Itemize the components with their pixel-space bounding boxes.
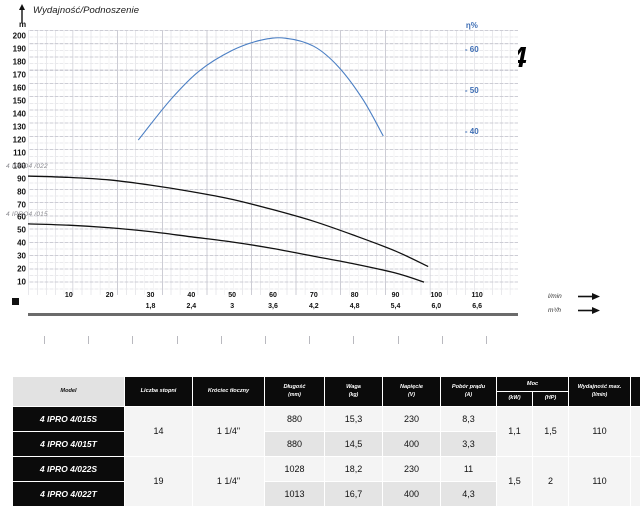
chart-axis-title: Wydajność/Podnoszenie [33,5,139,16]
table-body: 4 IPRO 4/015S141 1/4"88015,32308,31,11,5… [13,406,640,506]
cell-power-hp: 2 [533,456,569,506]
eta-tick-50: - 50 [465,86,479,95]
right-arrow-icon [578,292,600,301]
x-tick-30: 30 [147,292,155,299]
lower-tick-9 [442,336,443,344]
cell-outlet: 1 1/4" [193,406,265,456]
x-tick-m3h-80: 4,8 [350,303,360,310]
header-voltage: Napięcie (V) [383,377,441,407]
header-voltage-unit: (V) [384,392,439,400]
y-tick-90: 90 [0,174,26,183]
x-tick-m3h-100: 6,0 [431,303,441,310]
y-tick-10: 10 [0,278,26,287]
x-tick-10: 10 [65,292,73,299]
x-tick-m3h-90: 5,4 [391,303,401,310]
y-tick-40: 40 [0,239,26,248]
curve-head-0 [28,176,428,266]
cell-current: 4,3 [441,481,497,506]
cell-power-hp: 1,5 [533,406,569,456]
cell-stages: 14 [125,406,193,456]
y-tick-190: 190 [0,45,26,54]
plot-area [28,30,518,295]
header-current: Pobór prądu (A) [441,377,497,407]
x-tick-40: 40 [187,292,195,299]
y-tick-20: 20 [0,265,26,274]
header-current-unit: (A) [442,392,495,400]
cell-voltage: 230 [383,456,441,481]
curve-efficiency [138,38,383,140]
cell-length: 1028 [265,456,325,481]
cell-weight: 15,3 [325,406,383,431]
cell-outlet: 1 1/4" [193,456,265,506]
header-power-kw: (kW) [497,391,533,406]
y-tick-200: 200 [0,32,26,41]
curve-head-1 [28,224,424,282]
header-head-max: Wysokość podnoszenia max. (m) [631,377,640,407]
unit-label-m3h: m³/h [548,307,570,314]
cell-flow-max: 110 [569,456,631,506]
curve-layer [28,30,518,295]
header-flow-max: Wydajność max. (l/min) [569,377,631,407]
header-length-text: Długość [283,384,305,390]
x-tick-110: 110 [472,292,483,299]
cell-length: 880 [265,406,325,431]
header-head-unit: max. (m) [632,396,640,404]
unit-row-lmin: l/min [548,291,638,302]
header-weight: Waga (kg) [325,377,383,407]
x-tick-50: 50 [228,292,236,299]
cell-stages: 19 [125,456,193,506]
y-tick-80: 80 [0,187,26,196]
x-tick-100: 100 [430,292,442,299]
cell-model: 4 IPRO 4/015S [13,406,125,431]
eta-tick-40: - 40 [465,127,479,136]
cell-weight: 18,2 [325,456,383,481]
cell-flow-max: 110 [569,406,631,456]
curve-label-1: 4 IPRO4 /015 [6,211,48,218]
cell-model: 4 IPRO 4/015T [13,431,125,456]
unit-row-m3h: m³/h [548,305,638,316]
x-axis-units: l/min m³/h [548,291,638,319]
x-tick-m3h-40: 2,4 [186,303,196,310]
header-flow-unit: (l/min) [570,392,629,400]
x-tick-m3h-50: 3 [230,303,234,310]
cell-current: 8,3 [441,406,497,431]
header-power: Moc [497,377,569,392]
lower-tick-7 [353,336,354,344]
y-tick-170: 170 [0,71,26,80]
y-tick-120: 120 [0,135,26,144]
x-tick-80: 80 [351,292,359,299]
y-tick-150: 150 [0,97,26,106]
cell-weight: 16,7 [325,481,383,506]
x-tick-m3h-30: 1,8 [146,303,156,310]
table-header-row-1: Model Liczba stopni Króciec tłoczny Dług… [13,377,640,392]
cell-voltage: 400 [383,431,441,456]
header-voltage-text: Napięcie [400,384,423,390]
y-tick-160: 160 [0,84,26,93]
eta-axis-label: η% [466,21,478,30]
y-axis-unit: m [19,20,26,29]
header-weight-unit: (kg) [326,392,381,400]
x-tick-m3h-70: 4,2 [309,303,319,310]
x-tick-70: 70 [310,292,318,299]
y-tick-70: 70 [0,200,26,209]
y-tick-130: 130 [0,122,26,131]
curve-label-0: 4 IPRO4 /022 [6,163,48,170]
cell-head-max: 127 [631,456,640,506]
header-length-unit: (mm) [266,392,323,400]
header-length: Długość (mm) [265,377,325,407]
eta-tick-60: - 60 [465,45,479,54]
right-arrow-icon-2 [578,306,600,315]
header-stages: Liczba stopni [125,377,193,407]
specs-table-container: Model Liczba stopni Króciec tłoczny Dług… [12,376,628,507]
cell-power-kw: 1,1 [497,406,533,456]
cell-model: 4 IPRO 4/022S [13,456,125,481]
y-tick-30: 30 [0,252,26,261]
cell-current: 3,3 [441,431,497,456]
lower-tick-0 [44,336,45,344]
header-flow-text: Wydajność max. [578,384,622,390]
table-row[interactable]: 4 IPRO 4/015S141 1/4"88015,32308,31,11,5… [13,406,640,431]
header-model: Model [13,377,125,407]
x-tick-20: 20 [106,292,114,299]
specs-table: Model Liczba stopni Króciec tłoczny Dług… [12,376,640,507]
cell-current: 11 [441,456,497,481]
lower-tick-6 [309,336,310,344]
datasheet-page: Wydajność/Podnoszenie m 4 IPRO 4 1020304… [0,0,640,516]
x-tick-m3h-110: 6,6 [472,303,482,310]
lower-tick-marks [0,336,640,346]
cell-length: 1013 [265,481,325,506]
table-row[interactable]: 4 IPRO 4/022S191 1/4"102818,2230111,5211… [13,456,640,481]
x-axis-labels: 1020301,8402,4503603,6704,2804,8905,4100… [0,292,640,322]
y-tick-180: 180 [0,58,26,67]
cell-voltage: 400 [383,481,441,506]
header-weight-text: Waga [346,384,361,390]
lower-tick-10 [486,336,487,344]
cell-voltage: 230 [383,406,441,431]
x-axis-bar [28,313,518,316]
lower-tick-8 [398,336,399,344]
cell-head-max: 94 [631,406,640,456]
lower-tick-5 [265,336,266,344]
lower-tick-1 [88,336,89,344]
header-current-text: Pobór prądu [452,384,485,390]
x-tick-m3h-60: 3,6 [268,303,278,310]
lower-tick-3 [177,336,178,344]
cell-weight: 14,5 [325,431,383,456]
cell-length: 880 [265,431,325,456]
cell-power-kw: 1,5 [497,456,533,506]
unit-label-lmin: l/min [548,293,570,300]
header-outlet: Króciec tłoczny [193,377,265,407]
lower-tick-2 [132,336,133,344]
y-tick-140: 140 [0,110,26,119]
cell-model: 4 IPRO 4/022T [13,481,125,506]
x-tick-90: 90 [392,292,400,299]
lower-tick-4 [221,336,222,344]
header-power-hp: (HP) [533,391,569,406]
x-tick-60: 60 [269,292,277,299]
performance-chart: Wydajność/Podnoszenie m 4 IPRO 4 1020304… [0,0,640,370]
y-tick-50: 50 [0,226,26,235]
y-tick-110: 110 [0,148,26,157]
